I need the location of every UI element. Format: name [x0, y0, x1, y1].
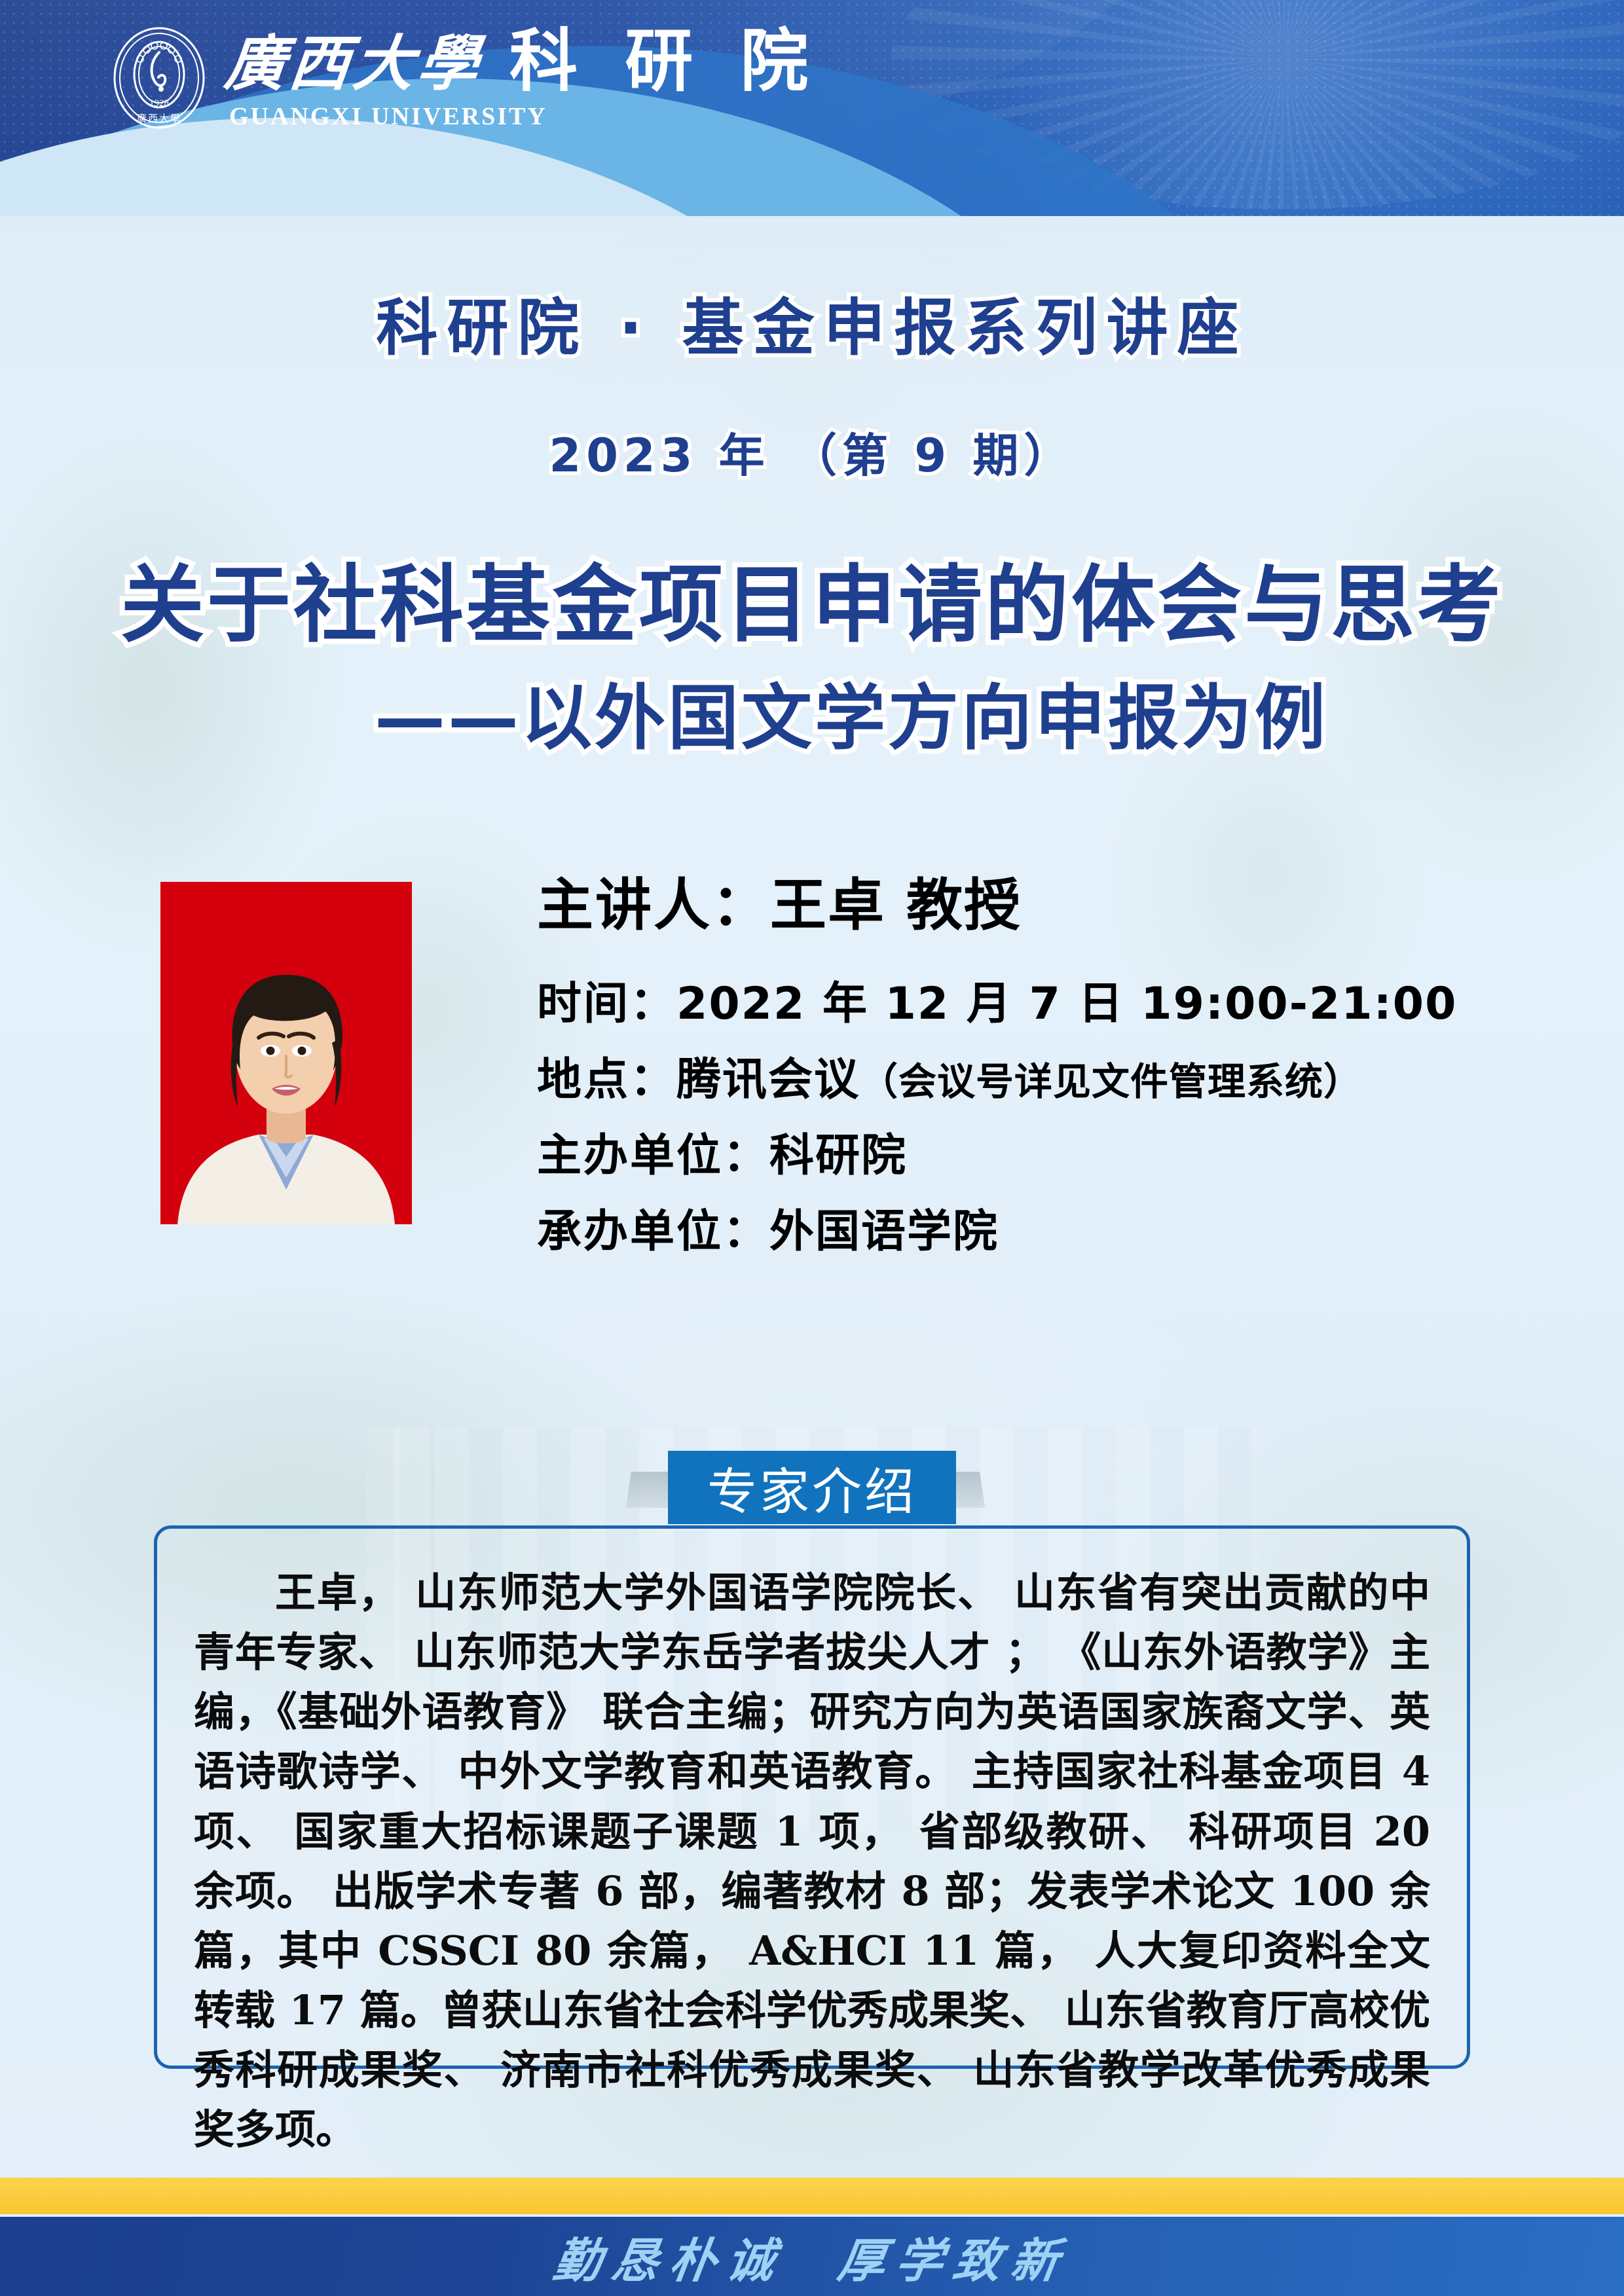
issue-number: 2023 年 （第 9 期） [0, 419, 1624, 485]
guangxi-university-emblem-icon: 1928 廣西大學 [110, 26, 208, 130]
speaker-label: 主讲人： [537, 873, 770, 938]
host-value: 科研院 [769, 1130, 907, 1182]
detail-place: 地点：腾讯会议（会议号详见文件管理系统） [537, 1058, 1559, 1102]
expert-intro-badge-label: 专家介绍 [707, 1451, 917, 1523]
footer-band: 勤恳朴诚 厚学致新 [0, 2217, 1624, 2296]
time-label: 时间： [537, 978, 676, 1030]
lecture-sub-title: ——以外国文学方向申报为例 [0, 661, 1624, 763]
series-title: 科研院 · 基金申报系列讲座 [0, 278, 1624, 367]
svg-text:廣西大學: 廣西大學 [137, 113, 181, 124]
expert-intro-badge: 专家介绍 [668, 1451, 956, 1524]
time-value: 2022 年 12 月 7 日 19:00-21:00 [676, 978, 1457, 1030]
organizer-value: 外国语学院 [769, 1206, 999, 1258]
speaker-portrait [160, 882, 412, 1224]
university-name-cn: 廣西大學 [222, 33, 485, 94]
footer-gold-bar [0, 2178, 1624, 2214]
lecture-details: 主讲人：王卓 教授 时间：2022 年 12 月 7 日 19:00-21:00… [537, 877, 1559, 1286]
university-name-en: GUANGXI UNIVERSITY [229, 104, 820, 129]
place-value: 腾讯会议 [676, 1054, 860, 1106]
expert-bio-text: 王卓， 山东师范大学外国语学院院长、 山东省有突出贡献的中青年专家、 山东师范大… [194, 1563, 1430, 2159]
poster-root: 1928 廣西大學 廣西大學 科 研 院 GUANGXI UNIVERSITY … [0, 0, 1624, 2296]
detail-host: 主办单位：科研院 [537, 1134, 1559, 1178]
brand-lockup: 1928 廣西大學 廣西大學 科 研 院 GUANGXI UNIVERSITY [110, 26, 820, 130]
university-motto: 勤恳朴诚 厚学致新 [550, 2222, 1075, 2291]
detail-time: 时间：2022 年 12 月 7 日 19:00-21:00 [537, 982, 1559, 1027]
detail-organizer: 承办单位：外国语学院 [537, 1210, 1559, 1254]
place-note: （会议号详见文件管理系统） [860, 1059, 1362, 1104]
brand-text-block: 廣西大學 科 研 院 GUANGXI UNIVERSITY [225, 27, 820, 129]
place-label: 地点： [537, 1054, 676, 1106]
poster-header: 1928 廣西大學 廣西大學 科 研 院 GUANGXI UNIVERSITY [0, 0, 1624, 216]
speaker-value: 王卓 教授 [770, 873, 1022, 938]
host-label: 主办单位： [537, 1130, 769, 1182]
expert-bio-box: 王卓， 山东师范大学外国语学院院长、 山东省有突出贡献的中青年专家、 山东师范大… [154, 1525, 1470, 2069]
unit-name-cn: 科 研 院 [509, 27, 820, 95]
lecture-main-title: 关于社科基金项目申请的体会与思考 [0, 537, 1624, 658]
detail-speaker: 主讲人：王卓 教授 [537, 877, 1559, 934]
svg-text:1928: 1928 [149, 98, 169, 109]
organizer-label: 承办单位： [537, 1206, 769, 1258]
